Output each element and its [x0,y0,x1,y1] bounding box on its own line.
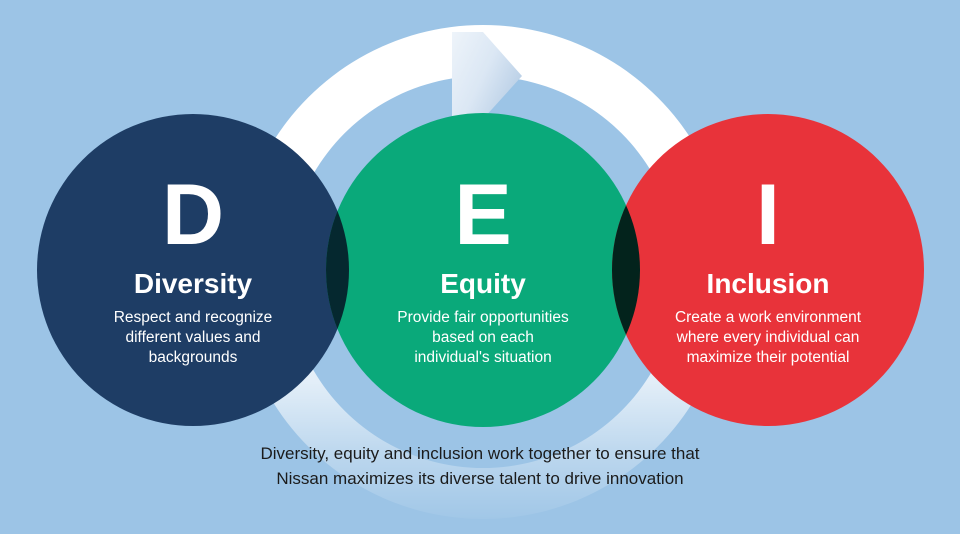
caption-line-1: Diversity, equity and inclusion work tog… [0,442,960,467]
text-block-equity: E Equity Provide fair opportunities base… [323,172,643,368]
description-inclusion: Create a work environment where every in… [608,308,928,367]
bottom-strip [0,534,960,540]
caption: Diversity, equity and inclusion work tog… [0,442,960,491]
dei-venn-diagram: D Diversity Respect and recognize differ… [0,0,960,540]
title-inclusion: Inclusion [608,268,928,300]
letter-diversity: D [33,172,353,258]
text-block-inclusion: I Inclusion Create a work environment wh… [608,172,928,368]
letter-inclusion: I [608,172,928,258]
title-equity: Equity [323,268,643,300]
caption-line-2: Nissan maximizes its diverse talent to d… [0,467,960,492]
letter-equity: E [323,172,643,258]
title-diversity: Diversity [33,268,353,300]
text-block-diversity: D Diversity Respect and recognize differ… [33,172,353,368]
description-equity: Provide fair opportunities based on each… [323,308,643,367]
description-diversity: Respect and recognize different values a… [33,308,353,367]
